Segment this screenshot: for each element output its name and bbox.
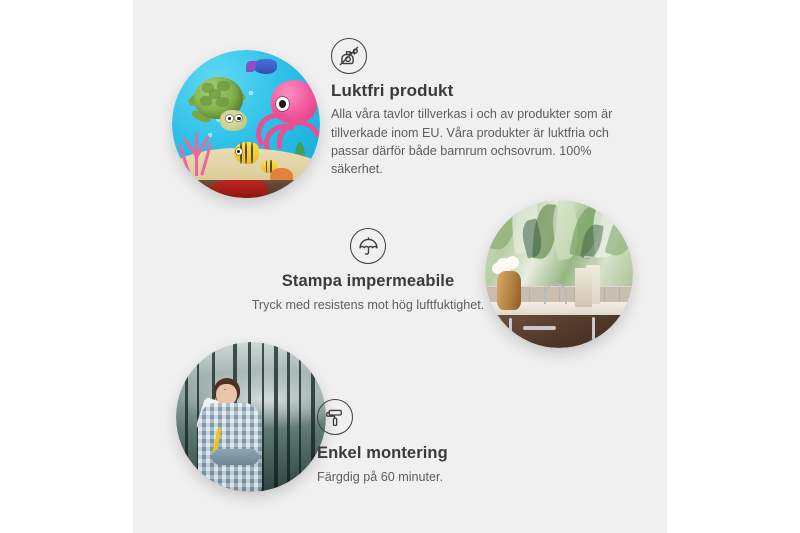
ocean-scene	[172, 50, 320, 198]
crossed-arms	[212, 449, 259, 465]
turtle-eye	[235, 115, 242, 121]
fish-pupil	[237, 150, 240, 153]
tree-trunk	[287, 342, 290, 492]
turtle-head	[220, 110, 247, 131]
cabinet-handle	[509, 318, 512, 341]
no-odor-spray-bottle-icon	[331, 38, 631, 74]
feature-block-odorless: Luktfri produkt Alla våra tavlor tillver…	[331, 38, 631, 178]
cabinet-handle	[592, 317, 595, 340]
turtle-pupil	[228, 117, 231, 120]
faucet-icon	[544, 283, 567, 304]
forest-scene	[176, 342, 326, 492]
sea-turtle-icon	[188, 77, 256, 136]
shell-scute	[209, 89, 221, 98]
fish-stripe	[245, 142, 247, 164]
paint-roller-icon	[317, 399, 617, 435]
feature-description: Alla våra tavlor tillverkas i och av pro…	[331, 105, 631, 178]
tree-trunk	[185, 342, 188, 492]
feature-title: Stampa impermeabile	[211, 272, 525, 292]
umbrella-icon	[211, 228, 525, 264]
turtle-pupil	[237, 117, 240, 120]
tree-trunk	[299, 342, 301, 492]
tree-trunk	[311, 342, 315, 492]
smile	[224, 388, 226, 390]
red-shipwreck-object	[210, 180, 266, 198]
page-root: Luktfri produkt Alla våra tavlor tillver…	[0, 0, 800, 533]
feature-description: Tryck med resistens mot hög luftfuktighe…	[211, 296, 525, 314]
towel	[575, 268, 591, 306]
blue-fish-icon	[253, 59, 277, 74]
feature-title: Enkel montering	[317, 444, 617, 464]
fish-stripe	[251, 142, 253, 164]
octopus-icon	[255, 80, 317, 157]
product-feature-panel: Luktfri produkt Alla våra tavlor tillver…	[133, 0, 667, 533]
feature-title: Luktfri produkt	[331, 81, 631, 101]
fish-stripe	[266, 160, 267, 173]
coral-icon	[178, 128, 222, 175]
product-image-ocean[interactable]	[172, 50, 320, 198]
woman-with-paint-roller	[191, 378, 278, 492]
feature-block-waterproof: Stampa impermeabile Tryck med resistens …	[211, 228, 525, 314]
yellow-fish-icon	[234, 142, 259, 164]
fish-tail	[246, 61, 256, 72]
octopus-eye	[276, 97, 290, 112]
feature-block-install: Enkel montering Färgdig på 60 minuter.	[317, 399, 617, 486]
wooden-vanity-cabinet	[485, 315, 633, 348]
turtle-eye	[226, 115, 233, 121]
drawer-handle	[523, 326, 556, 330]
product-image-forest[interactable]	[176, 342, 326, 492]
feature-description: Färgdig på 60 minuter.	[317, 468, 617, 486]
octopus-pupil	[279, 100, 286, 108]
plaid-shirt	[198, 403, 262, 492]
